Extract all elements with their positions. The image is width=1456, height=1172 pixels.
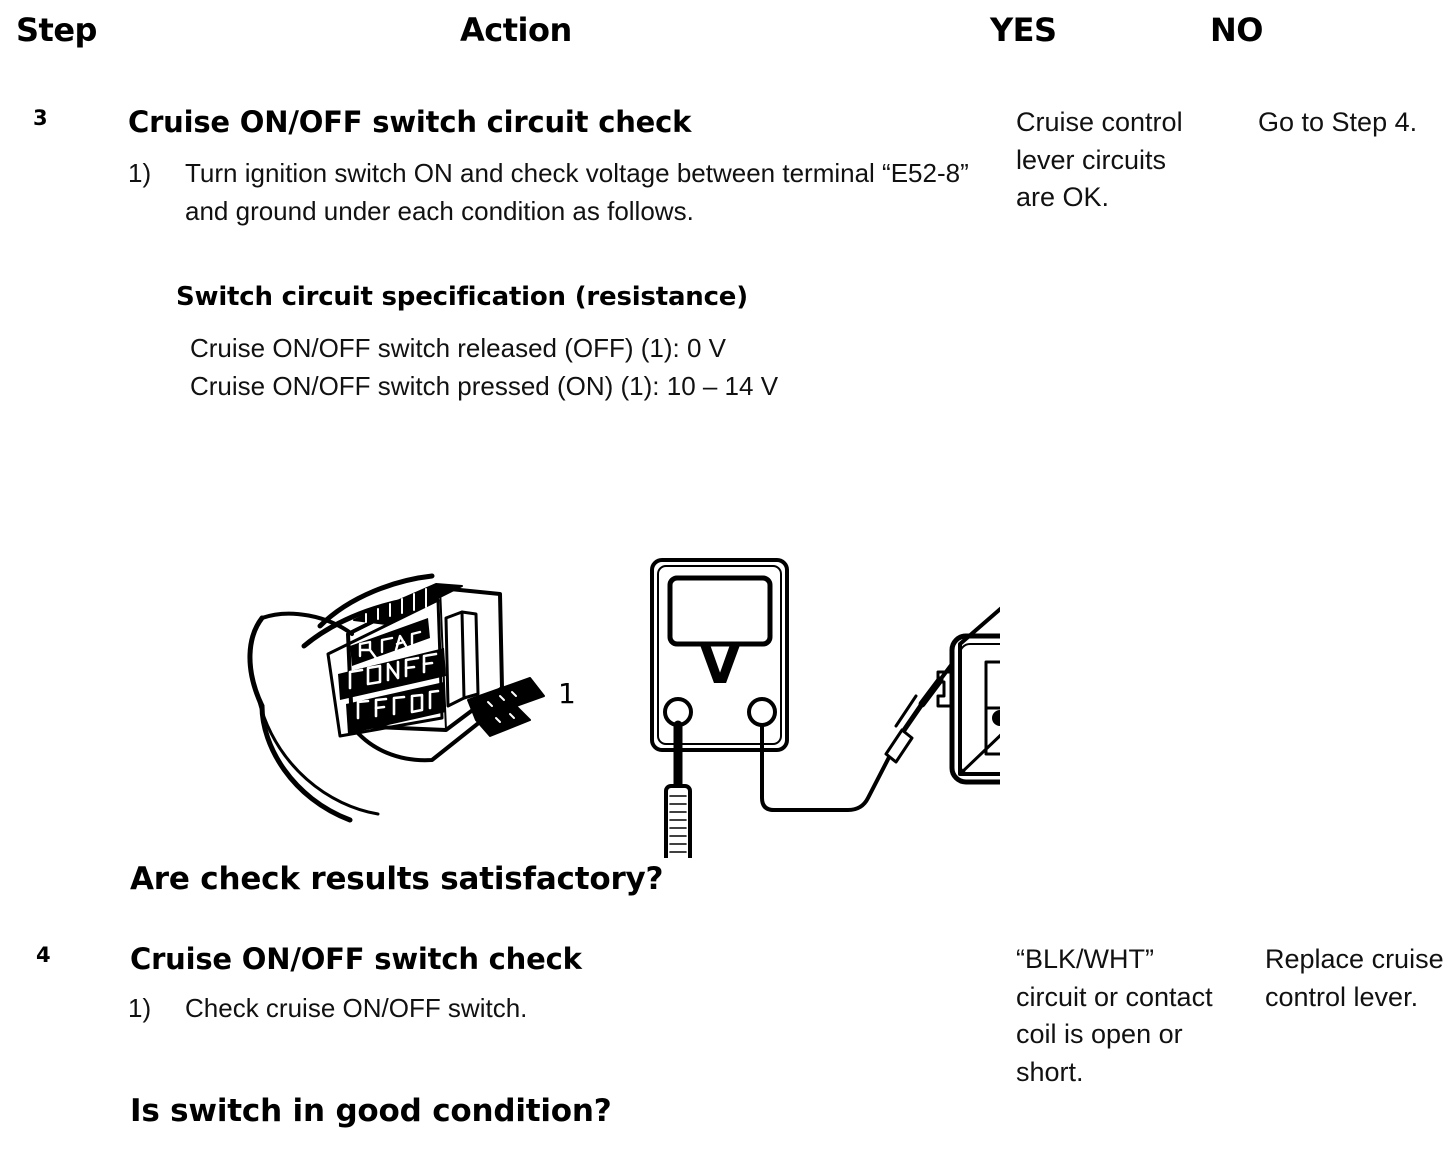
callout-1-label: 1	[558, 677, 576, 710]
column-header-action: Action	[460, 14, 572, 46]
step-4-question: Is switch in good condition?	[130, 1094, 612, 1129]
column-header-no: NO	[1210, 14, 1263, 46]
step-3-yes-result: Cruise control lever circuits are OK.	[1016, 104, 1206, 217]
test-lead-wire	[762, 725, 900, 810]
step-3-action-title: Cruise ON/OFF switch circuit check	[128, 106, 691, 138]
connector-probe	[886, 664, 952, 762]
connector-e52	[938, 564, 1000, 798]
step-number-4: 4	[36, 945, 51, 966]
step-3-spec-line-1: Cruise ON/OFF switch released (OFF) (1):…	[190, 330, 980, 368]
voltmeter: V	[652, 560, 787, 750]
column-header-step: Step	[16, 14, 97, 46]
step-4-no-result: Replace cruise control lever.	[1265, 941, 1445, 1016]
step-3-question: Are check results satisfactory?	[130, 862, 663, 897]
voltmeter-v-symbol: V	[699, 633, 741, 696]
step-3-item-1: 1) Turn ignition switch ON and check vol…	[128, 155, 1008, 231]
cruise-switch-voltage-check-diagram: 1 V	[200, 468, 1000, 858]
connector-terminal-leader	[993, 711, 1000, 790]
step-number-3: 3	[33, 108, 48, 129]
step-3-item-1-marker: 1)	[128, 155, 185, 231]
step-3-spec-line-2: Cruise ON/OFF switch pressed (ON) (1): 1…	[190, 368, 980, 406]
step-3-spec-title: Switch circuit specification (resistance…	[176, 283, 748, 312]
step-3-item-1-text: Turn ignition switch ON and check voltag…	[185, 155, 1008, 231]
step-3-no-result: Go to Step 4.	[1258, 104, 1448, 142]
step-4-yes-result: “BLK/WHT” circuit or contact coil is ope…	[1016, 941, 1216, 1091]
column-header-yes: YES	[990, 14, 1057, 46]
step-4-item-1-text: Check cruise ON/OFF switch.	[185, 990, 1008, 1028]
callout-1-arrow	[468, 678, 544, 736]
step-4-item-1-marker: 1)	[128, 990, 185, 1028]
step-4-action-title: Cruise ON/OFF switch check	[130, 943, 582, 975]
connector-pin-grid	[986, 662, 1000, 754]
step-4-item-1: 1) Check cruise ON/OFF switch.	[128, 990, 1008, 1028]
cruise-control-lever-switch	[250, 576, 502, 820]
